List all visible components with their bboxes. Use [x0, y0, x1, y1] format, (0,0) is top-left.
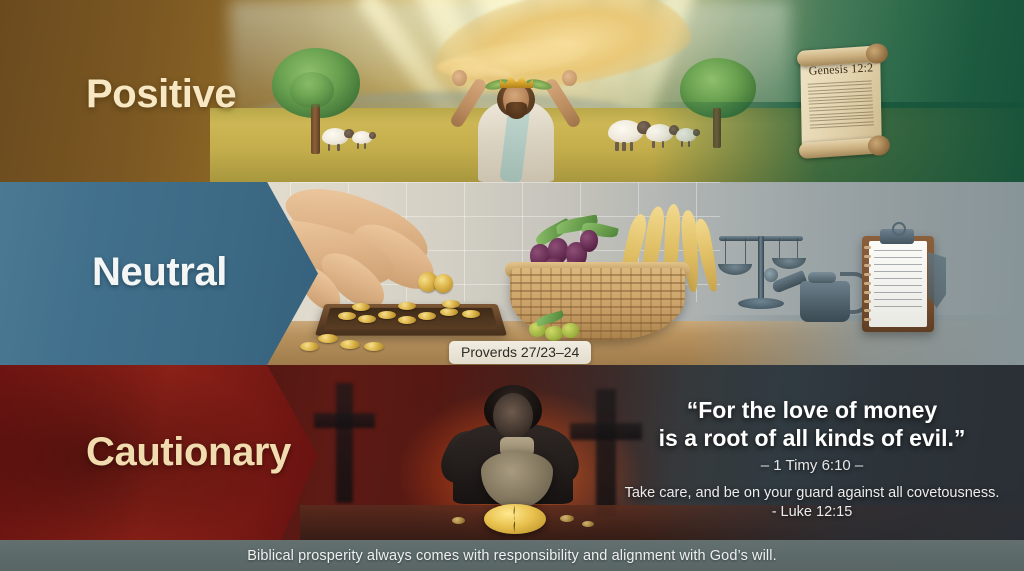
scales-string — [725, 238, 726, 264]
scroll-icon: Genesis 12:2 — [795, 40, 890, 160]
sheep-icon — [352, 131, 372, 144]
coin-icon — [318, 334, 338, 343]
scripture-quote-block: “For the love of money is a root of all … — [600, 396, 1024, 520]
table-fade-overlay — [690, 315, 1024, 365]
coin-icon — [378, 311, 396, 319]
tree-foliage — [290, 72, 334, 108]
coin-icon — [418, 312, 436, 320]
quote-line-1: “For the love of money — [600, 396, 1024, 424]
band-label-neutral: Neutral — [92, 250, 227, 295]
verse-chip-proverbs: Proverds 27/23–24 — [449, 341, 591, 364]
coin-icon — [440, 308, 458, 316]
figure-head — [493, 393, 533, 438]
coin-icon — [398, 302, 416, 310]
scales-string — [797, 238, 798, 258]
sheep-icon — [322, 128, 348, 145]
scales-base — [738, 298, 784, 309]
clipboard-clamp — [880, 229, 914, 244]
coin-icon — [300, 342, 319, 351]
coin-icon — [582, 521, 594, 527]
scales-string — [779, 238, 780, 258]
coin-icon — [560, 515, 574, 522]
quote-attribution: – 1 Timy 6:10 – — [600, 457, 1024, 474]
coin-icon — [462, 310, 480, 318]
band-positive: Genesis 12:2 Positive — [0, 0, 1024, 182]
scroll-body-lines — [808, 80, 875, 135]
band-label-cautionary: Cautionary — [86, 430, 291, 475]
watering-can-top — [808, 272, 836, 283]
footer-caption: Biblical prosperity always comes with re… — [247, 548, 776, 564]
coin-icon — [452, 517, 465, 524]
robed-figure-icon — [440, 40, 590, 182]
coin-icon — [364, 342, 384, 351]
scales-string — [745, 238, 746, 264]
olive-icon — [580, 230, 598, 252]
scales-post — [758, 236, 764, 300]
infographic-canvas: Genesis 12:2 Positive — [0, 0, 1024, 571]
cracked-coin-icon — [484, 504, 546, 534]
coin-icon — [398, 316, 416, 324]
coin-icon — [352, 303, 370, 311]
footer-bar: Biblical prosperity always comes with re… — [0, 540, 1024, 571]
coin-icon — [340, 340, 360, 349]
quote-secondary: Take care, and be on your guard against … — [600, 484, 1024, 504]
cross-icon — [336, 383, 353, 503]
quote-line-2: is a root of all kinds of evil.” — [600, 424, 1024, 452]
tree-trunk — [311, 104, 320, 154]
clipboard-ruled-lines — [874, 250, 922, 313]
watering-can-body — [800, 281, 850, 322]
sheep-icon — [608, 120, 643, 143]
coin-icon — [358, 315, 376, 323]
clipboard-spiral-binding — [864, 246, 871, 324]
quote-secondary-attribution: - Luke 12:15 — [600, 504, 1024, 520]
olive-icon — [545, 326, 563, 341]
coin-icon — [338, 312, 356, 320]
coin-icon — [442, 300, 460, 308]
band-label-positive: Positive — [86, 72, 236, 117]
olive-icon — [562, 323, 579, 338]
